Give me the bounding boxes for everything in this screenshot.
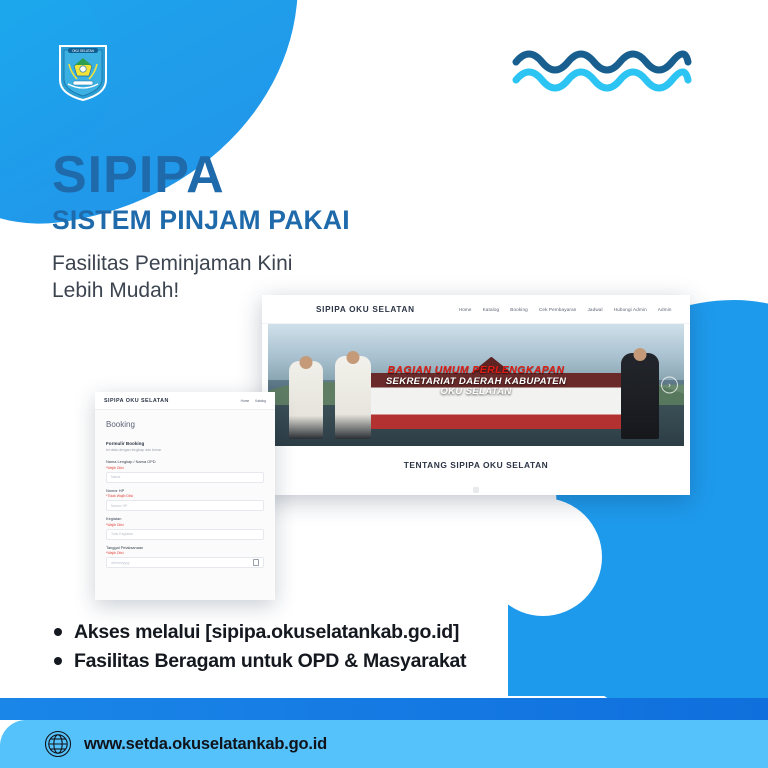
footer-bar: www.setda.okuselatankab.go.id: [0, 720, 768, 768]
field-placeholder-tanggal: dd/mm/yyyy: [111, 561, 130, 565]
bullet-dot-icon: [54, 628, 62, 636]
site-navbar: SIPIPA OKU SELATAN Home Katalog Booking …: [262, 295, 690, 324]
bullet-text-1: Akses melalui [sipipa.okuselatankab.go.i…: [74, 618, 459, 647]
form-heading: Formulir Booking: [106, 441, 264, 446]
footer-accent-band: [0, 698, 768, 720]
field-label-tanggal: Tanggal Pelaksanaan: [106, 545, 264, 550]
form-subheading: Isi data dengan lengkap dan benar: [106, 448, 264, 452]
field-input-nama[interactable]: Nama: [106, 472, 264, 483]
bullet-text-2: Fasilitas Beragam untuk OPD & Masyarakat: [74, 647, 466, 676]
field-required-nomor-hp: *Tidak Wajib Diisi: [106, 494, 264, 498]
booking-nav-menu: Home Katalog: [241, 399, 266, 403]
globe-icon: [44, 730, 72, 758]
hero-carousel[interactable]: BAGIAN UMUM PERLENGKAPAN SEKRETARIAT DAE…: [268, 324, 684, 446]
hero-banner-text: BAGIAN UMUM PERLENGKAPAN SEKRETARIAT DAE…: [268, 365, 684, 396]
booking-form: Formulir Booking Isi data dengan lengkap…: [95, 429, 275, 568]
wave-decoration-icon: [512, 44, 692, 92]
nav-item-home[interactable]: Home: [459, 307, 472, 312]
booking-navbar: SIPIPA OKU SELATAN Home Katalog: [95, 392, 275, 410]
bullet-dot-icon: [54, 657, 62, 665]
list-item: Akses melalui [sipipa.okuselatankab.go.i…: [44, 618, 466, 647]
site-brand: SIPIPA OKU SELATAN: [316, 305, 415, 314]
field-required-tanggal: *Wajib Diisi: [106, 551, 264, 555]
booking-site-brand: SIPIPA OKU SELATAN: [104, 398, 169, 404]
tagline-line-2: Lebih Mudah!: [52, 279, 179, 302]
svg-text:OKU SELATAN: OKU SELATAN: [72, 49, 95, 53]
footer-website-url[interactable]: www.setda.okuselatankab.go.id: [84, 735, 327, 754]
booking-nav-item-home[interactable]: Home: [241, 399, 250, 403]
field-required-nama: *Wajib Diisi: [106, 466, 264, 470]
hero-line-1: BAGIAN UMUM PERLENGKAPAN: [268, 365, 684, 376]
field-input-nomor-hp[interactable]: Nomor HP: [106, 500, 264, 511]
okuselatan-crest-logo: OKU SELATAN: [56, 40, 110, 102]
page-subtitle: SISTEM PINJAM PAKAI: [52, 207, 482, 235]
list-item: Fasilitas Beragam untuk OPD & Masyarakat: [44, 647, 466, 676]
hero-line-3: OKU SELATAN: [268, 387, 684, 397]
field-placeholder-nama: Nama: [111, 475, 120, 479]
site-nav-menu: Home Katalog Booking Cek Pembayaran Jadw…: [459, 307, 672, 312]
scroll-indicator: [473, 487, 479, 493]
field-label-nama: Nama Lengkap / Nama OPD: [106, 459, 264, 464]
field-label-kegiatan: Kegiatan: [106, 516, 264, 521]
nav-item-hubungi-admin[interactable]: Hubungi Admin: [614, 307, 647, 312]
headline-block: SIPIPA SISTEM PINJAM PAKAI Fasilitas Pem…: [52, 150, 482, 305]
chevron-right-icon[interactable]: ›: [661, 377, 678, 394]
section-heading-tentang: TENTANG SIPIPA OKU SELATAN: [262, 446, 690, 476]
nav-item-jadwal[interactable]: Jadwal: [587, 307, 602, 312]
nav-item-admin[interactable]: Admin: [658, 307, 672, 312]
figure-head: [634, 348, 647, 361]
screenshot-home-window: SIPIPA OKU SELATAN Home Katalog Booking …: [262, 295, 690, 495]
poster-canvas: OKU SELATAN SIPIPA SISTEM PINJAM PAKAI F…: [0, 0, 768, 768]
nav-item-booking[interactable]: Booking: [510, 307, 528, 312]
nav-item-katalog[interactable]: Katalog: [483, 307, 500, 312]
tagline-line-1: Fasilitas Peminjaman Kini: [52, 252, 292, 275]
field-input-kegiatan[interactable]: Tulis Kegiatan: [106, 529, 264, 540]
field-input-tanggal[interactable]: dd/mm/yyyy: [106, 557, 264, 568]
booking-page-title: Booking: [95, 410, 275, 429]
feature-bullet-list: Akses melalui [sipipa.okuselatankab.go.i…: [44, 618, 466, 676]
decorative-white-circle-notch: [484, 498, 602, 616]
field-label-nomor-hp: Nomor HP: [106, 488, 264, 493]
booking-nav-item-katalog[interactable]: Katalog: [255, 399, 266, 403]
figure-head: [346, 351, 359, 364]
footer-content: www.setda.okuselatankab.go.id: [0, 730, 327, 758]
field-required-kegiatan: *Wajib Diisi: [106, 523, 264, 527]
field-placeholder-nomor-hp: Nomor HP: [111, 504, 127, 508]
screenshot-booking-window: SIPIPA OKU SELATAN Home Katalog Booking …: [95, 392, 275, 600]
page-title: SIPIPA: [52, 150, 482, 201]
field-placeholder-kegiatan: Tulis Kegiatan: [111, 532, 133, 536]
calendar-icon[interactable]: [253, 559, 260, 566]
nav-item-cek-pembayaran[interactable]: Cek Pembayaran: [539, 307, 577, 312]
